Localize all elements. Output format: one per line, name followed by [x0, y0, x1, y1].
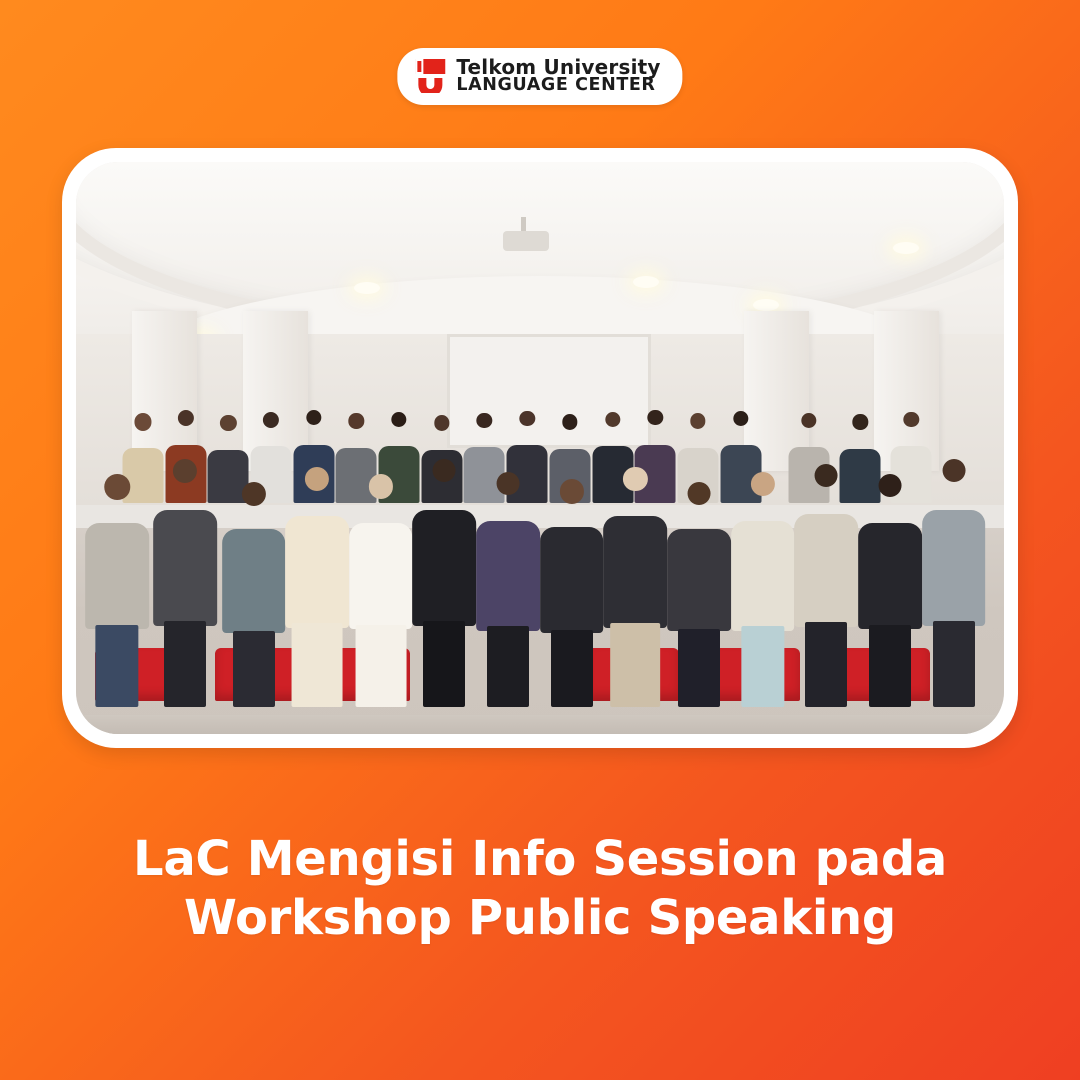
participant — [285, 459, 349, 706]
brand-name-line1: Telkom University — [456, 57, 660, 77]
group-photo-auditorium — [76, 162, 1004, 734]
ceiling-light — [893, 242, 919, 254]
brand-logo-text: Telkom University LANGUAGE CENTER — [456, 57, 660, 95]
participant — [85, 465, 149, 707]
participant — [731, 462, 795, 707]
participant — [922, 454, 986, 707]
participant — [604, 459, 668, 706]
caption: LaC Mengisi Info Session pada Workshop P… — [0, 830, 1080, 947]
caption-line-1: LaC Mengisi Info Session pada — [0, 830, 1080, 889]
participant — [222, 470, 286, 707]
participant — [540, 467, 604, 706]
participant — [153, 454, 217, 707]
participant — [349, 465, 413, 707]
brand-logo-pill: Telkom University LANGUAGE CENTER — [397, 48, 682, 105]
auditorium-scene — [76, 162, 1004, 734]
participant — [795, 457, 859, 707]
telkom-university-logo-icon — [415, 59, 445, 93]
projector-icon — [503, 231, 549, 251]
participant — [667, 470, 731, 707]
participant — [858, 465, 922, 707]
photo-card — [62, 148, 1018, 748]
participant — [476, 462, 540, 707]
participant — [413, 454, 477, 707]
front-row-participants — [85, 459, 994, 722]
brand-name-line2: LANGUAGE CENTER — [456, 77, 660, 95]
caption-line-2: Workshop Public Speaking — [0, 889, 1080, 948]
